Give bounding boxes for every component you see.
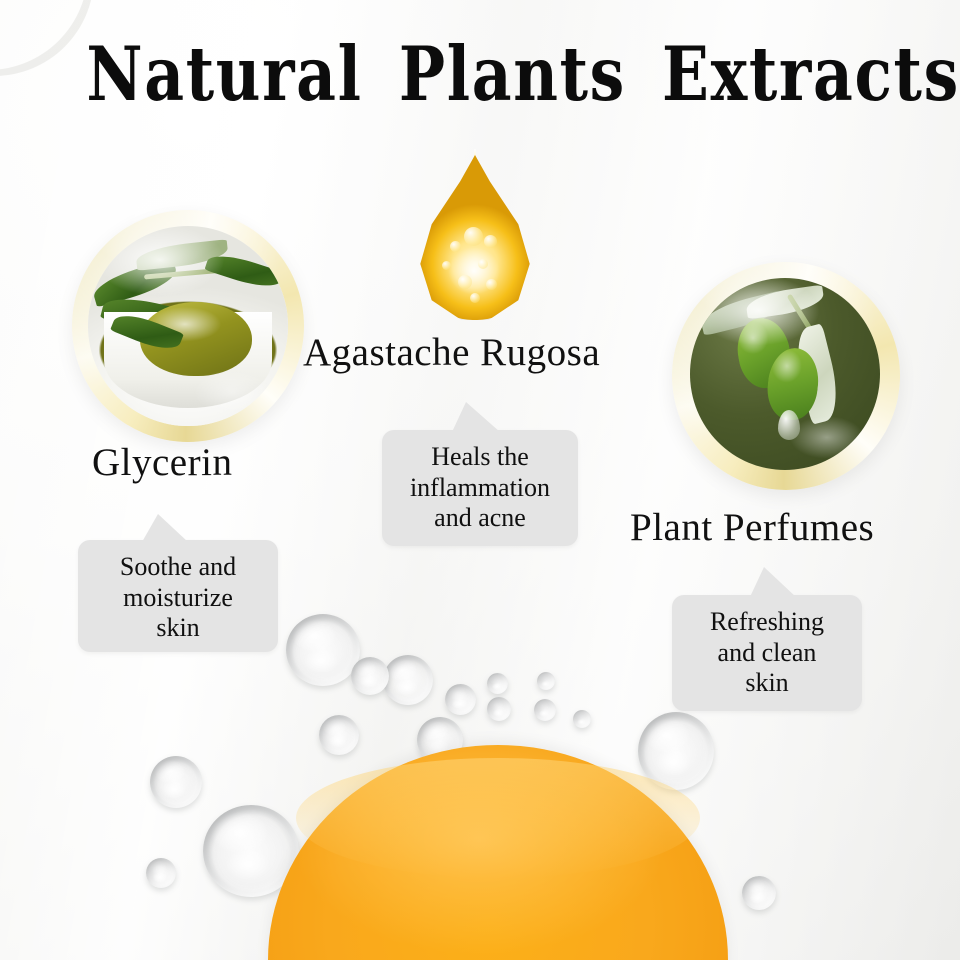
water-droplet — [487, 697, 511, 721]
benefit-bubble-plant-perfumes: Refreshing and clean skin — [672, 595, 862, 711]
water-drop-on-olive — [778, 410, 800, 440]
olive-oil-bowl-artwork — [88, 226, 288, 426]
olive-leaf-icon — [204, 249, 283, 293]
ingredient-circle-plant-perfumes — [672, 262, 900, 490]
oil-bubble — [442, 261, 451, 270]
ingredient-label-plant-perfumes: Plant Perfumes — [630, 505, 874, 550]
benefit-line: and clean — [686, 638, 848, 669]
green-olives-artwork — [690, 278, 880, 470]
ingredient-image-plant-perfumes — [690, 278, 880, 470]
benefit-bubble-agastache-rugosa: Heals the inflammation and acne — [382, 430, 578, 546]
bubble-tail — [142, 514, 188, 542]
oil-bubble — [450, 241, 461, 252]
oil-bubble — [470, 293, 480, 303]
olive-leaf-icon — [745, 285, 826, 320]
benefit-line: Heals the — [396, 442, 564, 473]
water-droplet — [286, 614, 360, 686]
oil-droplet-agastache — [418, 155, 532, 320]
benefit-line: moisturize — [92, 583, 264, 614]
corner-curve-decoration — [0, 0, 88, 70]
water-droplet — [487, 673, 508, 694]
water-droplet — [383, 655, 433, 705]
oil-bubble — [478, 259, 488, 269]
benefit-line: Refreshing — [686, 607, 848, 638]
ingredient-label-agastache-rugosa: Agastache Rugosa — [303, 330, 600, 375]
water-droplet — [351, 657, 389, 695]
water-droplet — [573, 710, 591, 728]
water-droplet — [537, 672, 555, 690]
ingredient-image-glycerin — [88, 226, 288, 426]
water-droplet — [150, 756, 202, 808]
water-droplet — [445, 684, 476, 715]
benefit-line: Soothe and — [92, 552, 264, 583]
water-droplet — [319, 715, 359, 755]
oil-bubble — [464, 227, 483, 246]
water-droplet — [534, 699, 556, 721]
bubble-tail — [750, 567, 796, 597]
benefit-line: and acne — [396, 503, 564, 534]
product-infographic: Natural Plants Extracts Glycerin — [0, 0, 960, 960]
page-title: Natural Plants Extracts — [86, 30, 873, 118]
oil-bubble — [484, 235, 497, 248]
ingredient-label-glycerin: Glycerin — [92, 440, 232, 485]
water-droplet — [146, 858, 176, 888]
ingredient-circle-glycerin — [72, 210, 304, 442]
benefit-line: inflammation — [396, 473, 564, 504]
oil-bubble — [458, 275, 472, 289]
benefit-bubble-glycerin: Soothe and moisturize skin — [78, 540, 278, 652]
benefit-line: skin — [92, 613, 264, 644]
benefit-line: skin — [686, 668, 848, 699]
water-droplet — [742, 876, 776, 910]
bubble-tail — [452, 402, 500, 432]
oil-bubble — [486, 279, 497, 290]
